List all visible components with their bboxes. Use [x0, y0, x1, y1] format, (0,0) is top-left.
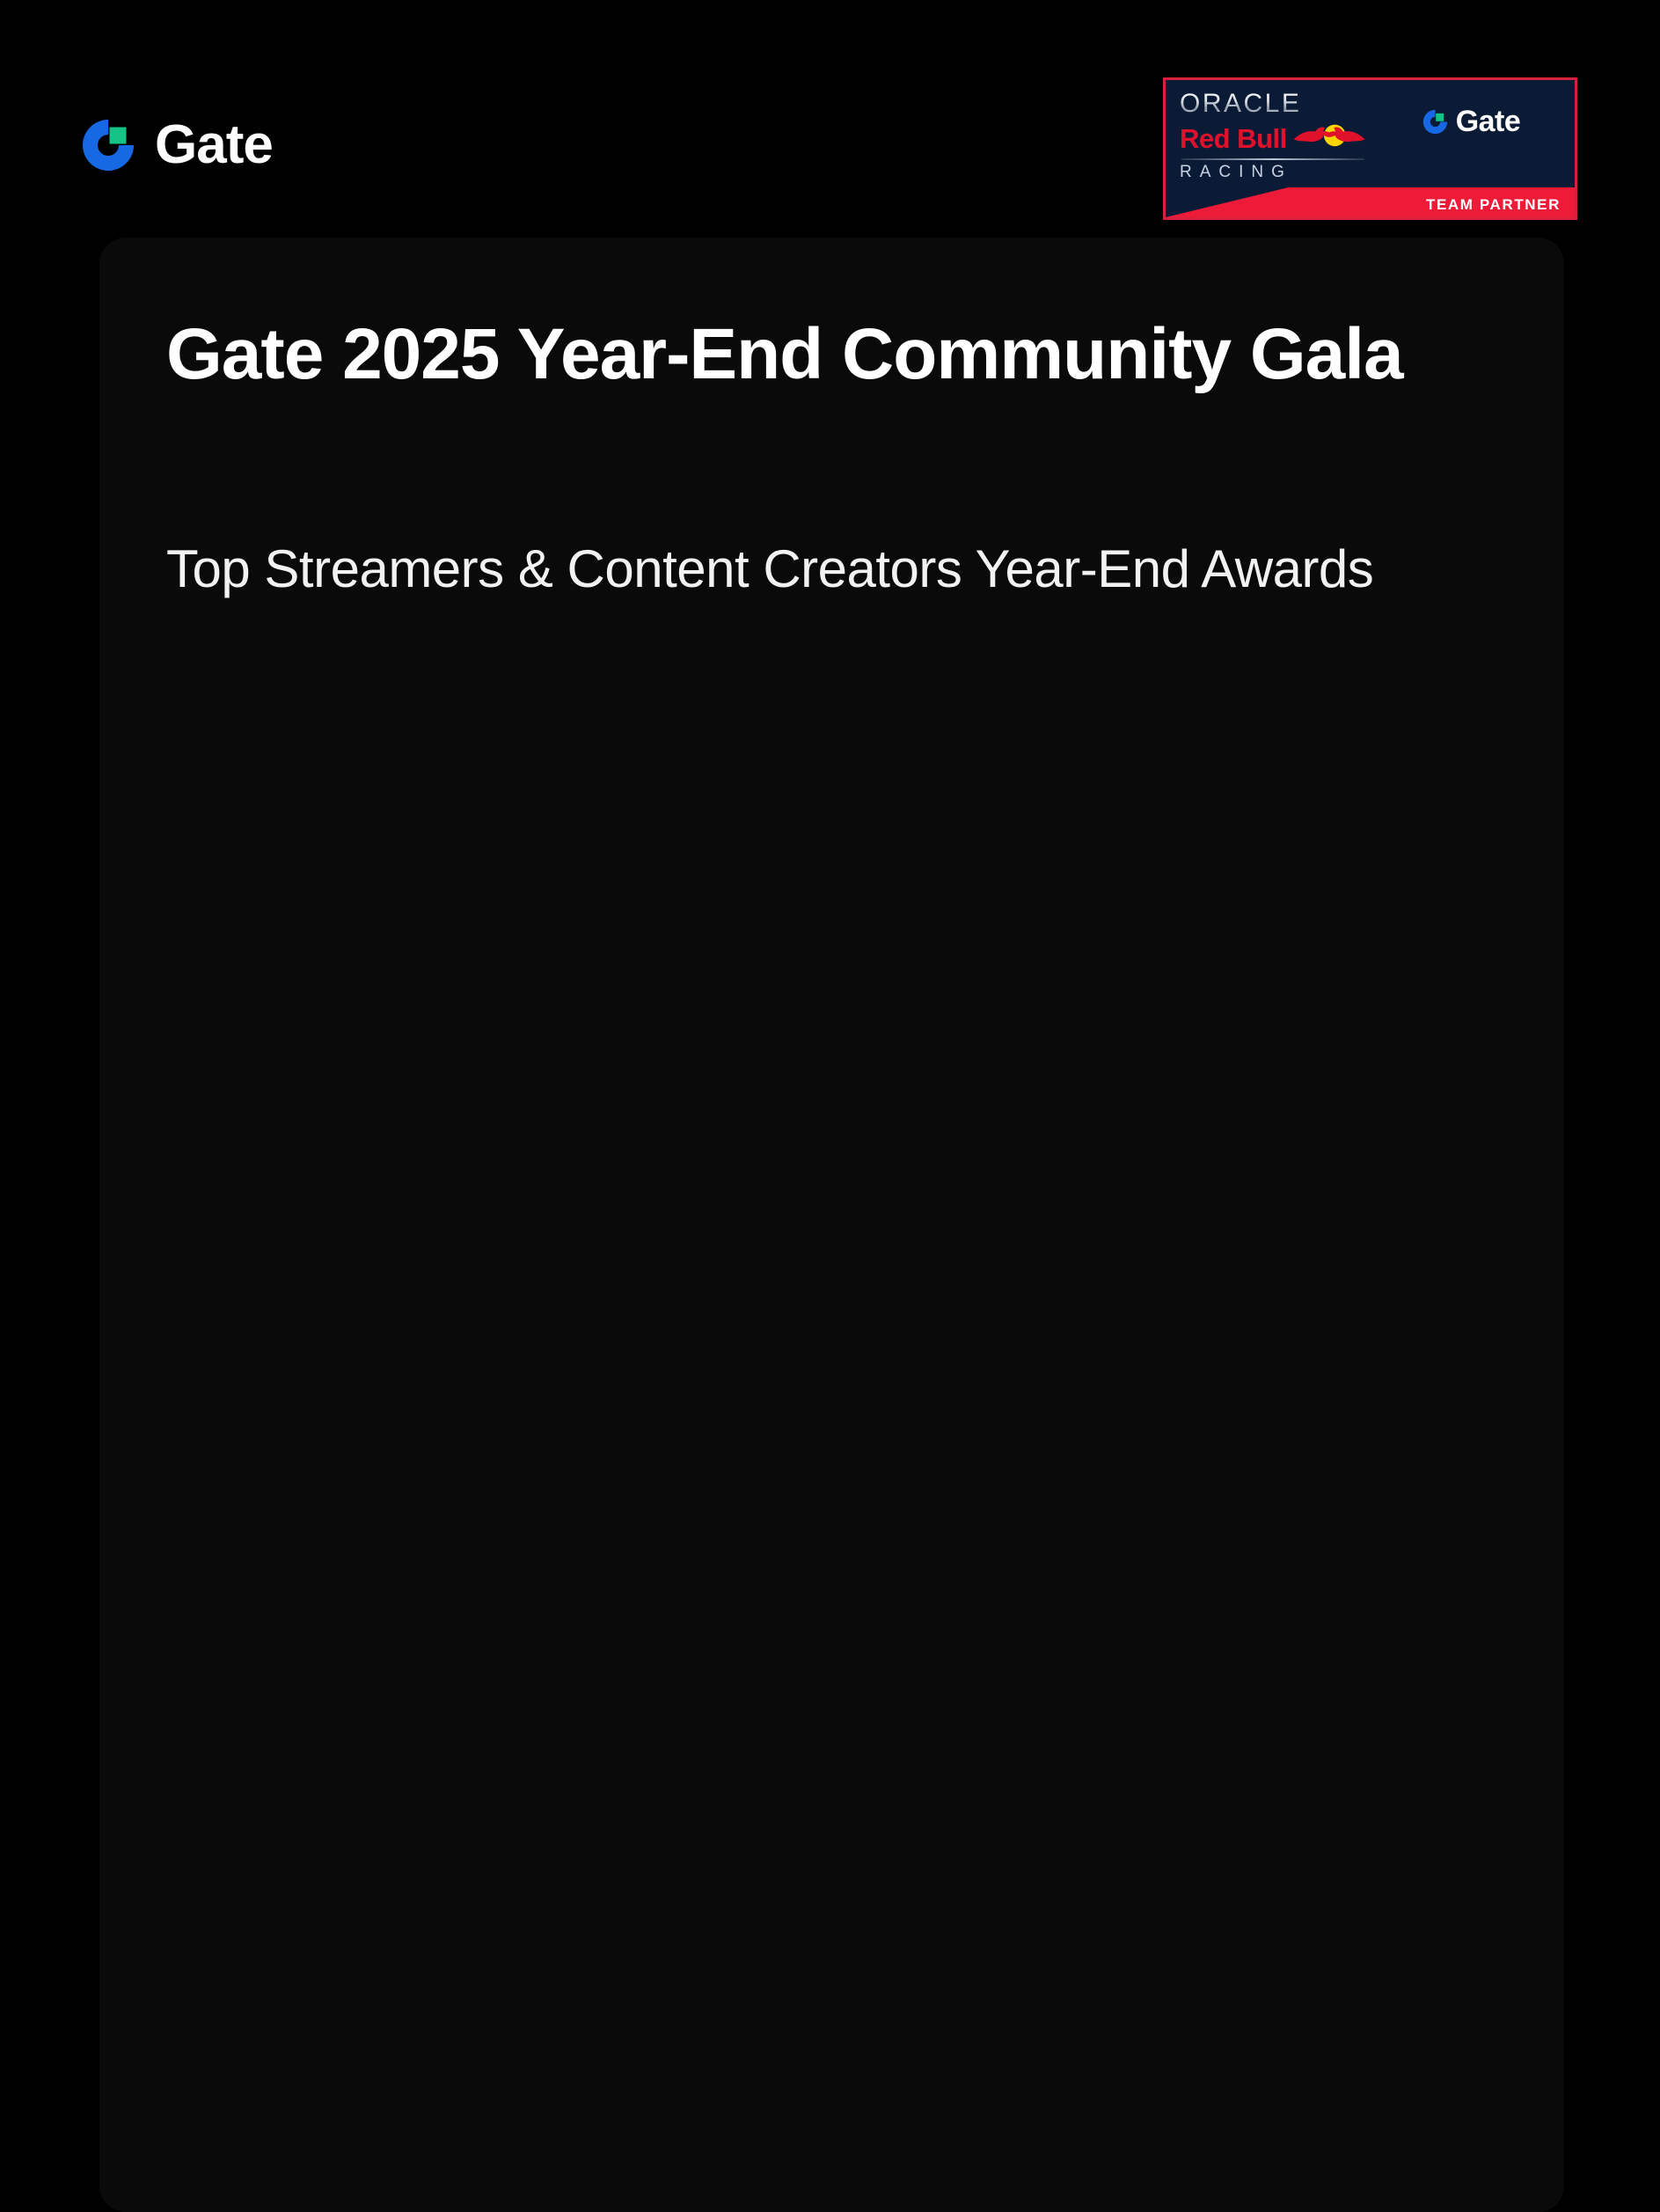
gate-logo-icon	[1421, 107, 1450, 136]
badge-gate-wordmark: Gate	[1456, 106, 1521, 136]
sparkle-icon	[447, 1263, 711, 1527]
oracle-red-bull-racing-partner-badge[interactable]: ORACLE Red Bull RACING	[1163, 77, 1577, 220]
badge-gate-logo: Gate	[1421, 106, 1521, 136]
oracle-label: ORACLE	[1180, 91, 1366, 117]
gate-crown-emblem-icon	[786, 1476, 880, 1541]
page-subtitle: Top Streamers & Content Creators Year-En…	[166, 537, 1564, 601]
page-header: Gate ORACLE Red Bull RACING	[0, 0, 1660, 238]
red-bull-icon	[1292, 122, 1366, 154]
light-rods-backdrop	[99, 510, 1564, 2011]
event-card: Gate 2025 Year-End Community Gala Top St…	[99, 238, 1564, 2212]
gate-wordmark: Gate	[155, 118, 273, 172]
crown-trophy-illustration	[551, 1078, 1114, 1659]
page-title: Gate 2025 Year-End Community Gala	[166, 310, 1539, 400]
gate-logo-icon	[77, 114, 139, 176]
red-bull-label: Red Bull	[1180, 125, 1287, 152]
team-partner-banner: TEAM PARTNER	[1166, 187, 1575, 217]
sparkle-icon	[997, 1681, 1199, 1883]
team-partner-label: TEAM PARTNER	[1426, 197, 1561, 212]
badge-divider	[1181, 158, 1364, 160]
racing-label: RACING	[1180, 164, 1366, 180]
golden-crown-award-hero-image	[99, 238, 1564, 2011]
gate-brand-logo[interactable]: Gate	[77, 114, 273, 176]
